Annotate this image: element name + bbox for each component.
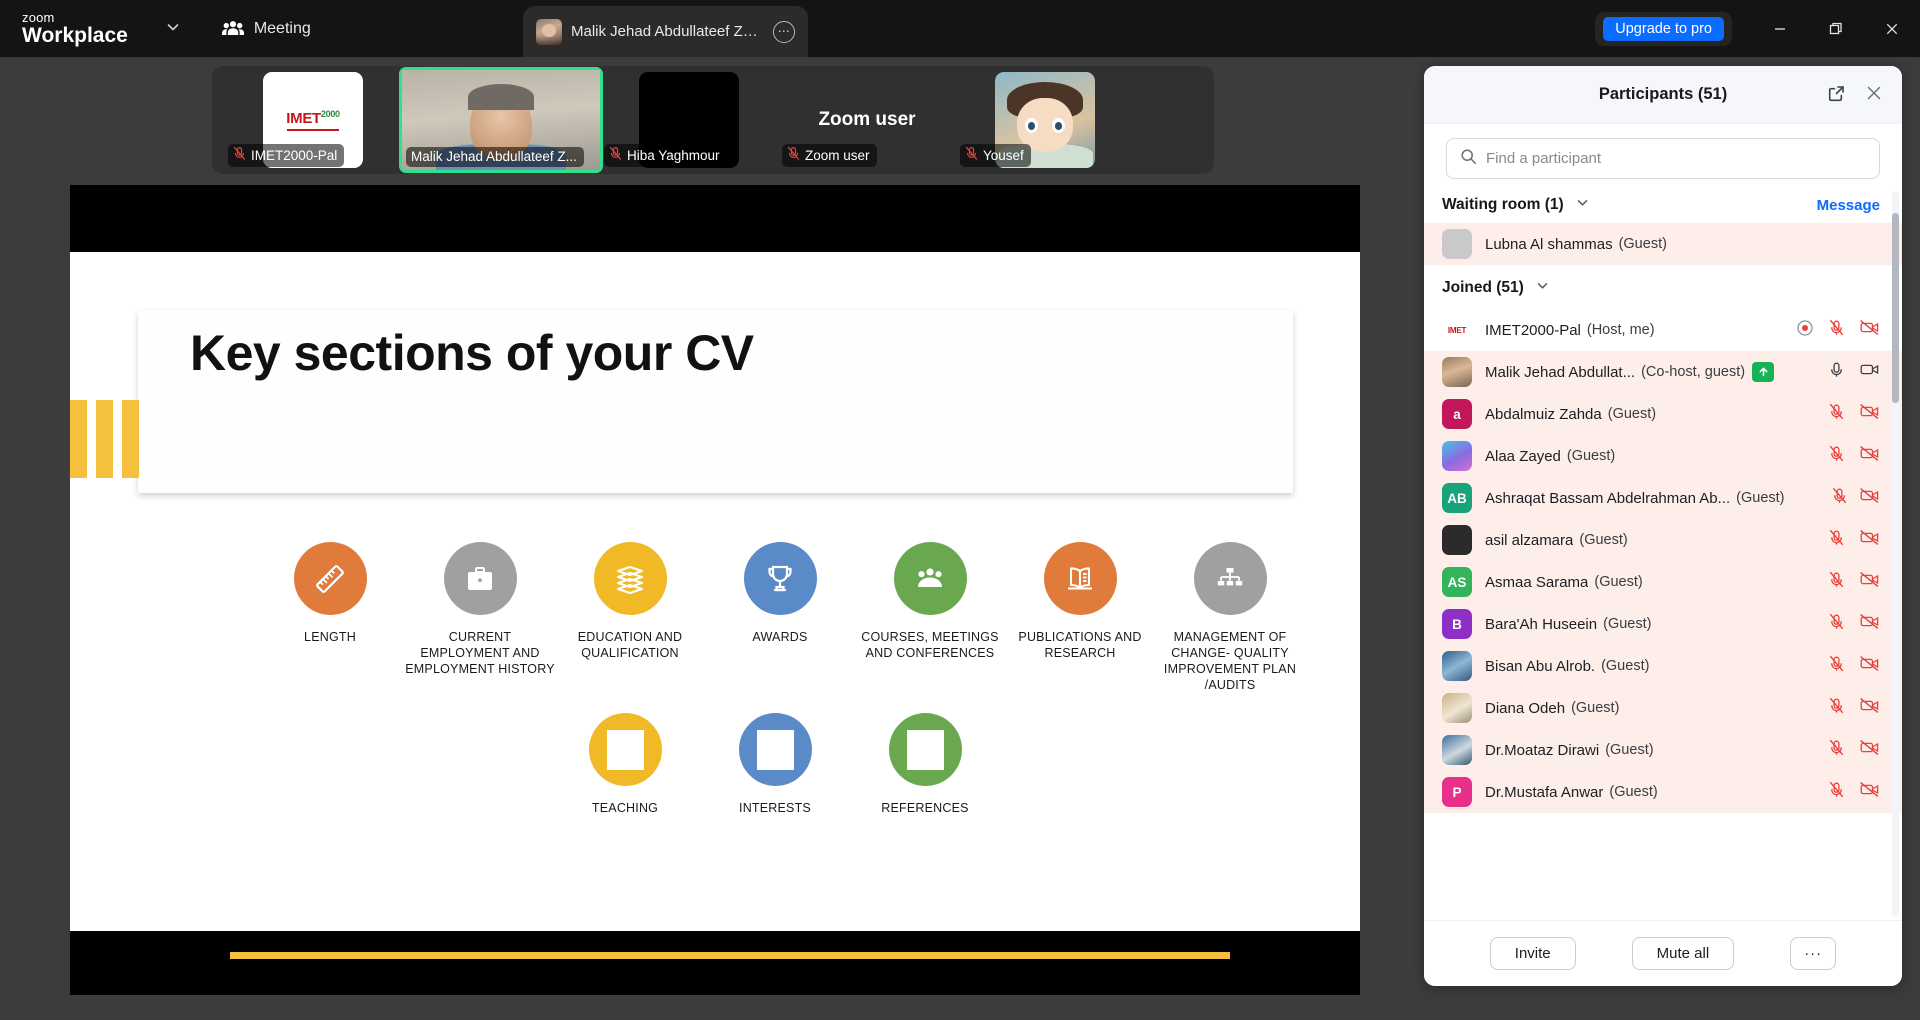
video-off-icon[interactable]	[1859, 612, 1880, 636]
mic-muted-icon	[233, 146, 246, 164]
avatar-initial: AB	[1447, 491, 1467, 506]
waiting-room-section-header[interactable]: Waiting room (1) Message	[1424, 187, 1902, 223]
participant-controls	[1819, 570, 1880, 594]
upgrade-to-pro-button[interactable]: Upgrade to pro	[1603, 17, 1724, 41]
search-input[interactable]	[1486, 150, 1866, 167]
participant-search-container	[1424, 124, 1902, 187]
message-waiting-room-button[interactable]: Message	[1817, 197, 1880, 214]
slide-icon-item: MANAGEMENT OF CHANGE- QUALITY IMPROVEMEN…	[1155, 542, 1305, 693]
search-box[interactable]	[1446, 138, 1880, 179]
participant-name: Lubna Al shammas	[1485, 236, 1613, 253]
video-thumbnail[interactable]: Yousef	[956, 70, 1134, 170]
meeting-nav-tab[interactable]: Meeting	[222, 20, 311, 38]
participants-panel: Participants (51) Waiting room (1) Messa…	[1424, 66, 1902, 986]
active-meeting-tab[interactable]: Malik Jehad Abdullateef Zaben's ⋯	[523, 6, 808, 57]
participant-role: (Host, me)	[1587, 322, 1655, 338]
avatar-initial: B	[1452, 617, 1462, 632]
slide-icon-item: TEACHING	[550, 713, 700, 816]
close-icon[interactable]	[1864, 83, 1884, 108]
video-off-icon[interactable]	[1859, 696, 1880, 720]
slide-icon-item: EDUCATION AND QUALIFICATION	[555, 542, 705, 693]
slide-icon-label: COURSES, MEETINGS AND CONFERENCES	[855, 629, 1005, 661]
trophy-icon	[744, 542, 817, 615]
participant-role: (Guest)	[1601, 658, 1649, 674]
slide-icon-label: LENGTH	[255, 629, 405, 645]
video-off-icon[interactable]	[1859, 654, 1880, 678]
square-icon	[589, 713, 662, 786]
avatar: B	[1442, 609, 1472, 639]
participant-role: (Guest)	[1571, 700, 1619, 716]
slide-icon-row-2: TEACHING INTERESTS REFERENCES	[70, 713, 1360, 816]
scrollbar-thumb[interactable]	[1892, 213, 1899, 403]
mute-all-button[interactable]: Mute all	[1632, 937, 1735, 970]
participant-role: (Guest)	[1603, 616, 1651, 632]
chevron-down-icon[interactable]	[1535, 278, 1550, 298]
open-book-icon	[1044, 542, 1117, 615]
participant-name: Abdalmuiz Zahda	[1485, 406, 1602, 423]
slide-icon-label: REFERENCES	[850, 800, 1000, 816]
thumbnail-name-badge: Malik Jehad Abdullateef Z...	[406, 147, 584, 167]
slide-icon-item: LENGTH	[255, 542, 405, 693]
avatar	[536, 19, 562, 45]
participants-list[interactable]: Waiting room (1) Message Lubna Al shamma…	[1424, 187, 1902, 920]
participant-controls	[1819, 738, 1880, 762]
ruler-icon	[294, 542, 367, 615]
slide-icon-item: CURRENT EMPLOYMENT AND EMPLOYMENT HISTOR…	[405, 542, 555, 693]
avatar: a	[1442, 399, 1472, 429]
shared-screen-area[interactable]: Key sections of your CV LENGTH CURRENT E…	[70, 185, 1360, 995]
people-group-icon	[894, 542, 967, 615]
brand-workplace-text: Workplace	[22, 25, 128, 46]
thumbnail-name-badge: Hiba Yaghmour	[604, 144, 727, 167]
video-thumbnail[interactable]: Hiba Yaghmour	[600, 70, 778, 170]
thumbnail-name: Zoom user	[805, 148, 870, 163]
close-icon[interactable]	[1864, 0, 1920, 57]
thumbnail-name: Hiba Yaghmour	[627, 148, 720, 163]
video-thumbnail-strip: IMET2000 IMET2000-Pal Malik Jehad Abdull…	[212, 66, 1214, 174]
avatar	[1442, 525, 1472, 555]
participant-controls	[1819, 696, 1880, 720]
mic-muted-icon[interactable]	[1827, 444, 1846, 468]
participant-role: (Co-host, guest)	[1641, 364, 1745, 380]
scrollbar-track[interactable]	[1892, 191, 1899, 916]
thumbnail-name-badge: IMET2000-Pal	[228, 144, 344, 167]
avatar	[1442, 357, 1472, 387]
video-thumbnail-active-speaker[interactable]: Malik Jehad Abdullateef Z...	[402, 70, 600, 170]
avatar	[1442, 735, 1472, 765]
books-icon	[594, 542, 667, 615]
avatar: P	[1442, 777, 1472, 807]
participant-controls	[1819, 444, 1880, 468]
table-row[interactable]: AS Asmaa Sarama (Guest)	[1424, 561, 1902, 603]
video-thumbnail[interactable]: IMET2000 IMET2000-Pal	[224, 70, 402, 170]
presentation-slide: Key sections of your CV LENGTH CURRENT E…	[70, 252, 1360, 931]
joined-label: Joined (51)	[1442, 279, 1524, 297]
slide-icon-row-1: LENGTH CURRENT EMPLOYMENT AND EMPLOYMENT…	[70, 542, 1360, 693]
mic-muted-icon[interactable]	[1827, 402, 1846, 426]
ellipsis-icon[interactable]: ⋯	[773, 21, 795, 43]
avatar-initial: a	[1453, 407, 1461, 422]
waiting-room-label: Waiting room (1)	[1442, 196, 1564, 214]
slide-icon-item: COURSES, MEETINGS AND CONFERENCES	[855, 542, 1005, 693]
video-off-icon[interactable]	[1859, 738, 1880, 762]
participant-controls	[1819, 780, 1880, 804]
upgrade-container: Upgrade to pro	[1595, 12, 1732, 46]
avatar-initial: AS	[1448, 575, 1467, 590]
square-icon	[889, 713, 962, 786]
slide-icon-grid: LENGTH CURRENT EMPLOYMENT AND EMPLOYMENT…	[70, 542, 1360, 816]
window-controls: Upgrade to pro	[1595, 0, 1920, 57]
participant-controls	[1819, 612, 1880, 636]
video-off-icon[interactable]	[1859, 486, 1880, 510]
participant-controls	[1788, 318, 1880, 342]
table-row[interactable]: P Dr.Mustafa Anwar (Guest)	[1424, 771, 1902, 813]
participant-name: Dr.Moataz Dirawi	[1485, 742, 1599, 759]
slide-icon-item: INTERESTS	[700, 713, 850, 816]
participant-role: (Guest)	[1594, 574, 1642, 590]
mic-muted-icon[interactable]	[1827, 654, 1846, 678]
square-icon	[739, 713, 812, 786]
slide-title-card: Key sections of your CV	[138, 310, 1293, 493]
slide-icon-label: CURRENT EMPLOYMENT AND EMPLOYMENT HISTOR…	[405, 629, 555, 677]
participant-role: (Guest)	[1736, 490, 1784, 506]
mic-muted-icon[interactable]	[1827, 696, 1846, 720]
more-options-button[interactable]: ···	[1790, 937, 1836, 970]
table-row[interactable]: Malik Jehad Abdullat... (Co-host, guest)	[1424, 351, 1902, 393]
slide-accent-rule	[230, 952, 1230, 959]
thumbnail-name-badge: Yousef	[960, 144, 1031, 167]
person-eye	[1052, 118, 1065, 133]
avatar	[1442, 651, 1472, 681]
mic-muted-icon	[787, 146, 800, 164]
imet-logo: IMET	[1448, 326, 1466, 335]
slide-title: Key sections of your CV	[190, 324, 754, 382]
slide-icon-label: PUBLICATIONS AND RESEARCH	[1005, 629, 1155, 661]
participant-name: asil alzamara	[1485, 532, 1573, 549]
restore-window-icon[interactable]	[1808, 0, 1864, 57]
thumbnail-name: Malik Jehad Abdullateef Z...	[411, 149, 577, 164]
thumbnail-name-badge: Zoom user	[782, 144, 877, 167]
participant-role: (Guest)	[1609, 784, 1657, 800]
table-row[interactable]: Dr.Moataz Dirawi (Guest)	[1424, 729, 1902, 771]
avatar: AS	[1442, 567, 1472, 597]
slide-icon-label: MANAGEMENT OF CHANGE- QUALITY IMPROVEMEN…	[1155, 629, 1305, 693]
slide-accent-bars	[70, 400, 139, 478]
participant-name: Dr.Mustafa Anwar	[1485, 784, 1603, 801]
video-off-icon[interactable]	[1859, 318, 1880, 342]
list-item[interactable]: Lubna Al shammas (Guest)	[1424, 223, 1902, 265]
mic-muted-icon[interactable]	[1827, 528, 1846, 552]
joined-section-header[interactable]: Joined (51)	[1424, 265, 1902, 309]
participant-controls	[1819, 528, 1880, 552]
slide-icon-item: PUBLICATIONS AND RESEARCH	[1005, 542, 1155, 693]
minimize-icon[interactable]	[1752, 0, 1808, 57]
participant-name: IMET2000-Pal	[1485, 322, 1581, 339]
table-row[interactable]: Bisan Abu Alrob. (Guest)	[1424, 645, 1902, 687]
mic-muted-icon[interactable]	[1827, 780, 1846, 804]
slide-icon-item: AWARDS	[705, 542, 855, 693]
thumbnail-name: Yousef	[983, 148, 1024, 163]
mic-muted-icon[interactable]	[1827, 570, 1846, 594]
table-row[interactable]: a Abdalmuiz Zahda (Guest)	[1424, 393, 1902, 435]
slide-icon-label: EDUCATION AND QUALIFICATION	[555, 629, 705, 661]
video-off-icon[interactable]	[1859, 570, 1880, 594]
avatar	[1442, 441, 1472, 471]
recording-icon[interactable]	[1796, 319, 1814, 342]
participant-controls	[1826, 486, 1880, 510]
people-group-icon	[222, 20, 244, 38]
video-thumbnail[interactable]: Zoom user Zoom user	[778, 70, 956, 170]
participant-name: Malik Jehad Abdullat...	[1485, 364, 1635, 381]
participant-name: Alaa Zayed	[1485, 448, 1561, 465]
avatar	[1442, 693, 1472, 723]
chevron-down-icon[interactable]	[162, 19, 184, 39]
participant-role: (Guest)	[1605, 742, 1653, 758]
mic-muted-icon[interactable]	[1827, 318, 1846, 342]
slide-icon-label: AWARDS	[705, 629, 855, 645]
participant-name: Ashraqat Bassam Abdelrahman Ab...	[1485, 490, 1730, 507]
participants-panel-header: Participants (51)	[1424, 66, 1902, 124]
avatar-initial: P	[1452, 785, 1461, 800]
briefcase-icon	[444, 542, 517, 615]
mic-muted-icon	[965, 146, 978, 164]
participant-role: (Guest)	[1619, 236, 1667, 252]
mic-muted-icon[interactable]	[1827, 738, 1846, 762]
org-chart-icon	[1194, 542, 1267, 615]
mic-muted-icon[interactable]	[1830, 486, 1849, 510]
participant-controls	[1819, 402, 1880, 426]
participant-role: (Guest)	[1579, 532, 1627, 548]
participant-name: Diana Odeh	[1485, 700, 1565, 717]
mic-muted-icon	[609, 146, 622, 164]
mic-on-icon[interactable]	[1827, 360, 1846, 384]
video-on-icon[interactable]	[1859, 360, 1880, 384]
active-tab-title: Malik Jehad Abdullateef Zaben's	[571, 23, 764, 40]
video-off-icon[interactable]	[1859, 444, 1880, 468]
table-row[interactable]: Diana Odeh (Guest)	[1424, 687, 1902, 729]
zoom-workplace-logo: zoom Workplace	[22, 11, 128, 46]
slide-icon-item: REFERENCES	[850, 713, 1000, 816]
imet-logo: IMET2000	[286, 109, 339, 127]
participant-role: (Guest)	[1608, 406, 1656, 422]
participant-display-name: Zoom user	[818, 109, 915, 131]
table-row[interactable]: AB Ashraqat Bassam Abdelrahman Ab... (Gu…	[1424, 477, 1902, 519]
participant-controls	[1819, 654, 1880, 678]
mic-muted-icon[interactable]	[1827, 612, 1846, 636]
promote-icon[interactable]	[1752, 362, 1774, 382]
table-row[interactable]: B Bara'Ah Huseein (Guest)	[1424, 603, 1902, 645]
page-title: Participants (51)	[1599, 85, 1727, 104]
window-title-bar: zoom Workplace Meeting Malik Jehad Abdul…	[0, 0, 1920, 57]
video-off-icon[interactable]	[1859, 780, 1880, 804]
person-eye	[1025, 118, 1038, 133]
meeting-tab-label: Meeting	[254, 20, 311, 38]
video-off-icon[interactable]	[1859, 528, 1880, 552]
avatar: IMET	[1442, 315, 1472, 345]
brand-zoom-text: zoom	[22, 11, 128, 24]
participant-name: Bisan Abu Alrob.	[1485, 658, 1595, 675]
avatar	[1442, 229, 1472, 259]
pop-out-icon[interactable]	[1827, 84, 1846, 108]
participant-role: (Guest)	[1567, 448, 1615, 464]
participant-controls	[1819, 360, 1880, 384]
participant-name: Bara'Ah Huseein	[1485, 616, 1597, 633]
invite-button[interactable]: Invite	[1490, 937, 1576, 970]
search-icon	[1460, 148, 1477, 170]
slide-icon-label: INTERESTS	[700, 800, 850, 816]
avatar: AB	[1442, 483, 1472, 513]
logo-underline	[287, 129, 339, 131]
thumbnail-name: IMET2000-Pal	[251, 148, 337, 163]
slide-icon-label: TEACHING	[550, 800, 700, 816]
table-row[interactable]: Alaa Zayed (Guest)	[1424, 435, 1902, 477]
table-row[interactable]: IMET IMET2000-Pal (Host, me)	[1424, 309, 1902, 351]
person-hair	[468, 84, 534, 110]
table-row[interactable]: asil alzamara (Guest)	[1424, 519, 1902, 561]
video-off-icon[interactable]	[1859, 402, 1880, 426]
chevron-down-icon[interactable]	[1575, 195, 1590, 215]
participant-name: Asmaa Sarama	[1485, 574, 1588, 591]
participants-panel-footer: Invite Mute all ···	[1424, 920, 1902, 986]
